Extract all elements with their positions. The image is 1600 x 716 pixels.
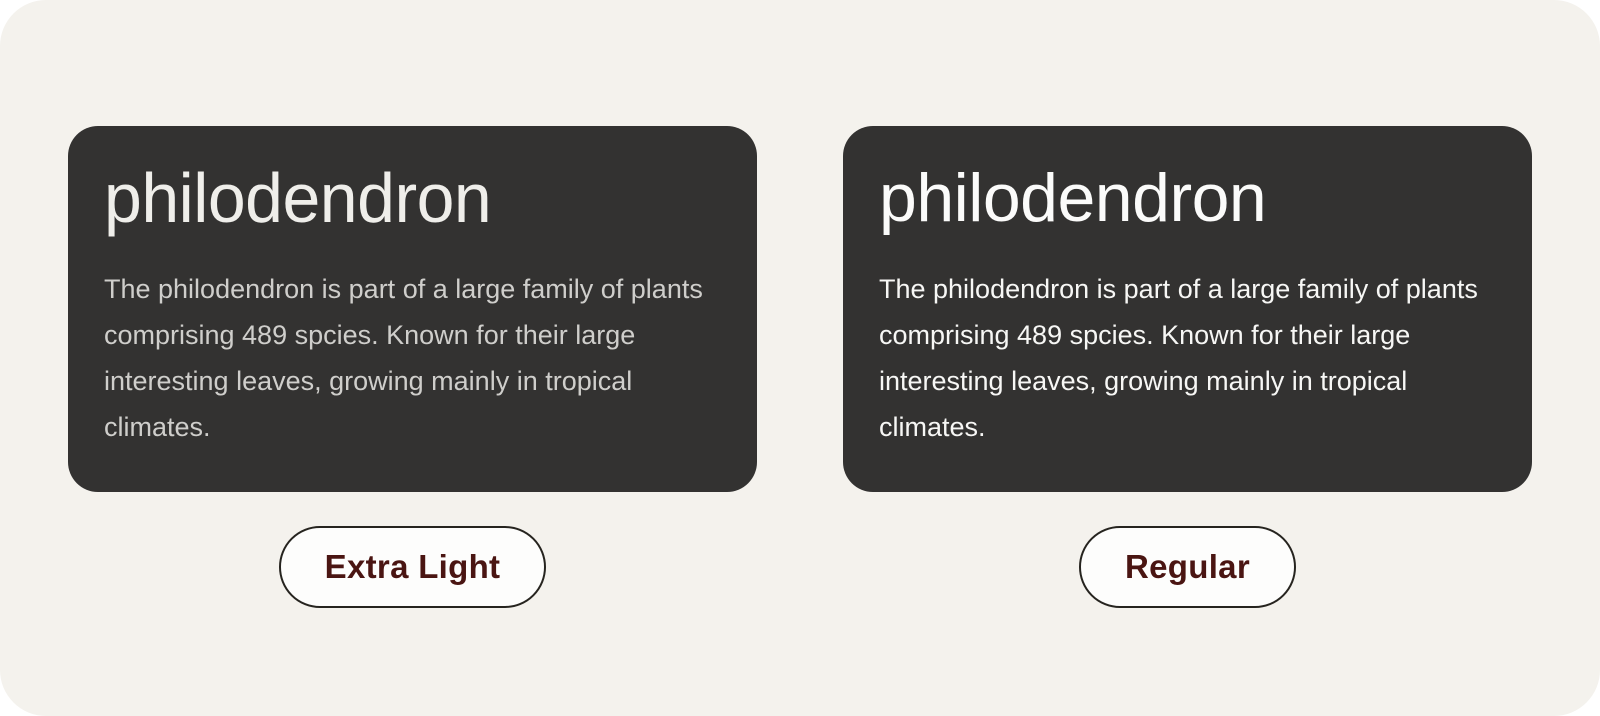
weight-label-slot-left: Extra Light xyxy=(68,527,757,607)
weight-pill-regular[interactable]: Regular xyxy=(1079,526,1296,608)
weight-label-slot-right: Regular xyxy=(843,527,1532,607)
specimen-card-extra-light: philodendron The philodendron is part of… xyxy=(68,126,757,492)
specimen-body-extra-light: The philodendron is part of a large fami… xyxy=(104,232,721,450)
specimen-card-regular: philodendron The philodendron is part of… xyxy=(843,126,1532,492)
specimen-card-row: philodendron The philodendron is part of… xyxy=(68,126,1532,492)
specimen-body-regular: The philodendron is part of a large fami… xyxy=(879,232,1496,450)
type-specimen-canvas: philodendron The philodendron is part of… xyxy=(0,0,1600,716)
weight-label-row: Extra Light Regular xyxy=(68,527,1532,607)
weight-pill-extra-light[interactable]: Extra Light xyxy=(279,526,547,608)
specimen-heading-regular: philodendron xyxy=(879,164,1496,232)
specimen-heading-extra-light: philodendron xyxy=(104,164,721,233)
